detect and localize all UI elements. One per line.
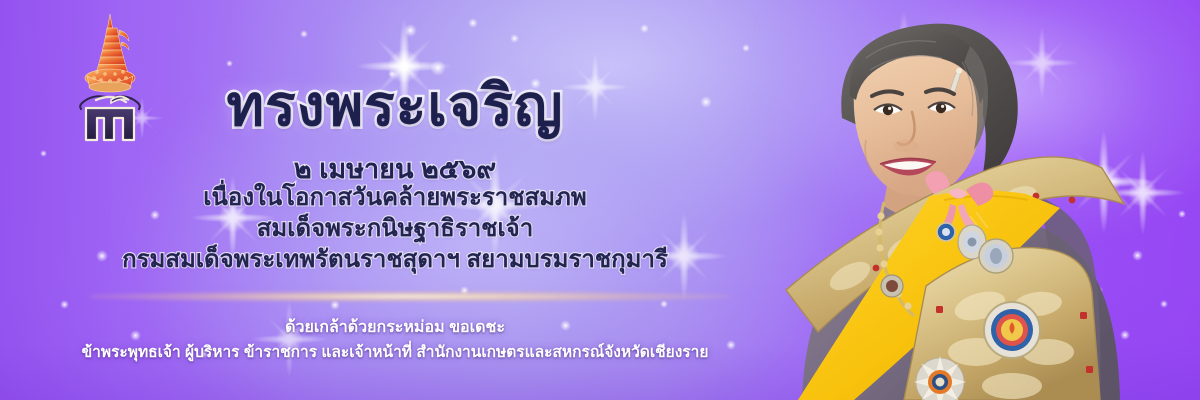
closing-line-1: ด้วยเกล้าด้วยกระหม่อม ขอเดชะ	[0, 315, 790, 340]
closing-line-2: ข้าพระพุทธเจ้า ผู้บริหาร ข้าราชการ และเจ…	[0, 340, 790, 365]
royal-birthday-banner: ทรงพระเจริญ ๒ เมษายน ๒๕๖๙ เนื่องในโอกาสว…	[0, 0, 1200, 400]
occasion-line-3: กรมสมเด็จพระเทพรัตนราชสุดาฯ สยามบรมราชกุ…	[0, 244, 790, 275]
occasion-line-1: เนื่องในโอกาสวันคล้ายพระราชสมภพ	[0, 182, 790, 213]
closing-text: ด้วยเกล้าด้วยกระหม่อม ขอเดชะ ข้าพระพุทธเ…	[0, 315, 790, 365]
page-title: ทรงพระเจริญ	[0, 78, 790, 135]
message-block: ทรงพระเจริญ ๒ เมษายน ๒๕๖๙ เนื่องในโอกาสว…	[0, 0, 790, 400]
occasion-text: เนื่องในโอกาสวันคล้ายพระราชสมภพ สมเด็จพร…	[0, 182, 790, 275]
occasion-line-2: สมเด็จพระกนิษฐาธิราชเจ้า	[0, 213, 790, 244]
